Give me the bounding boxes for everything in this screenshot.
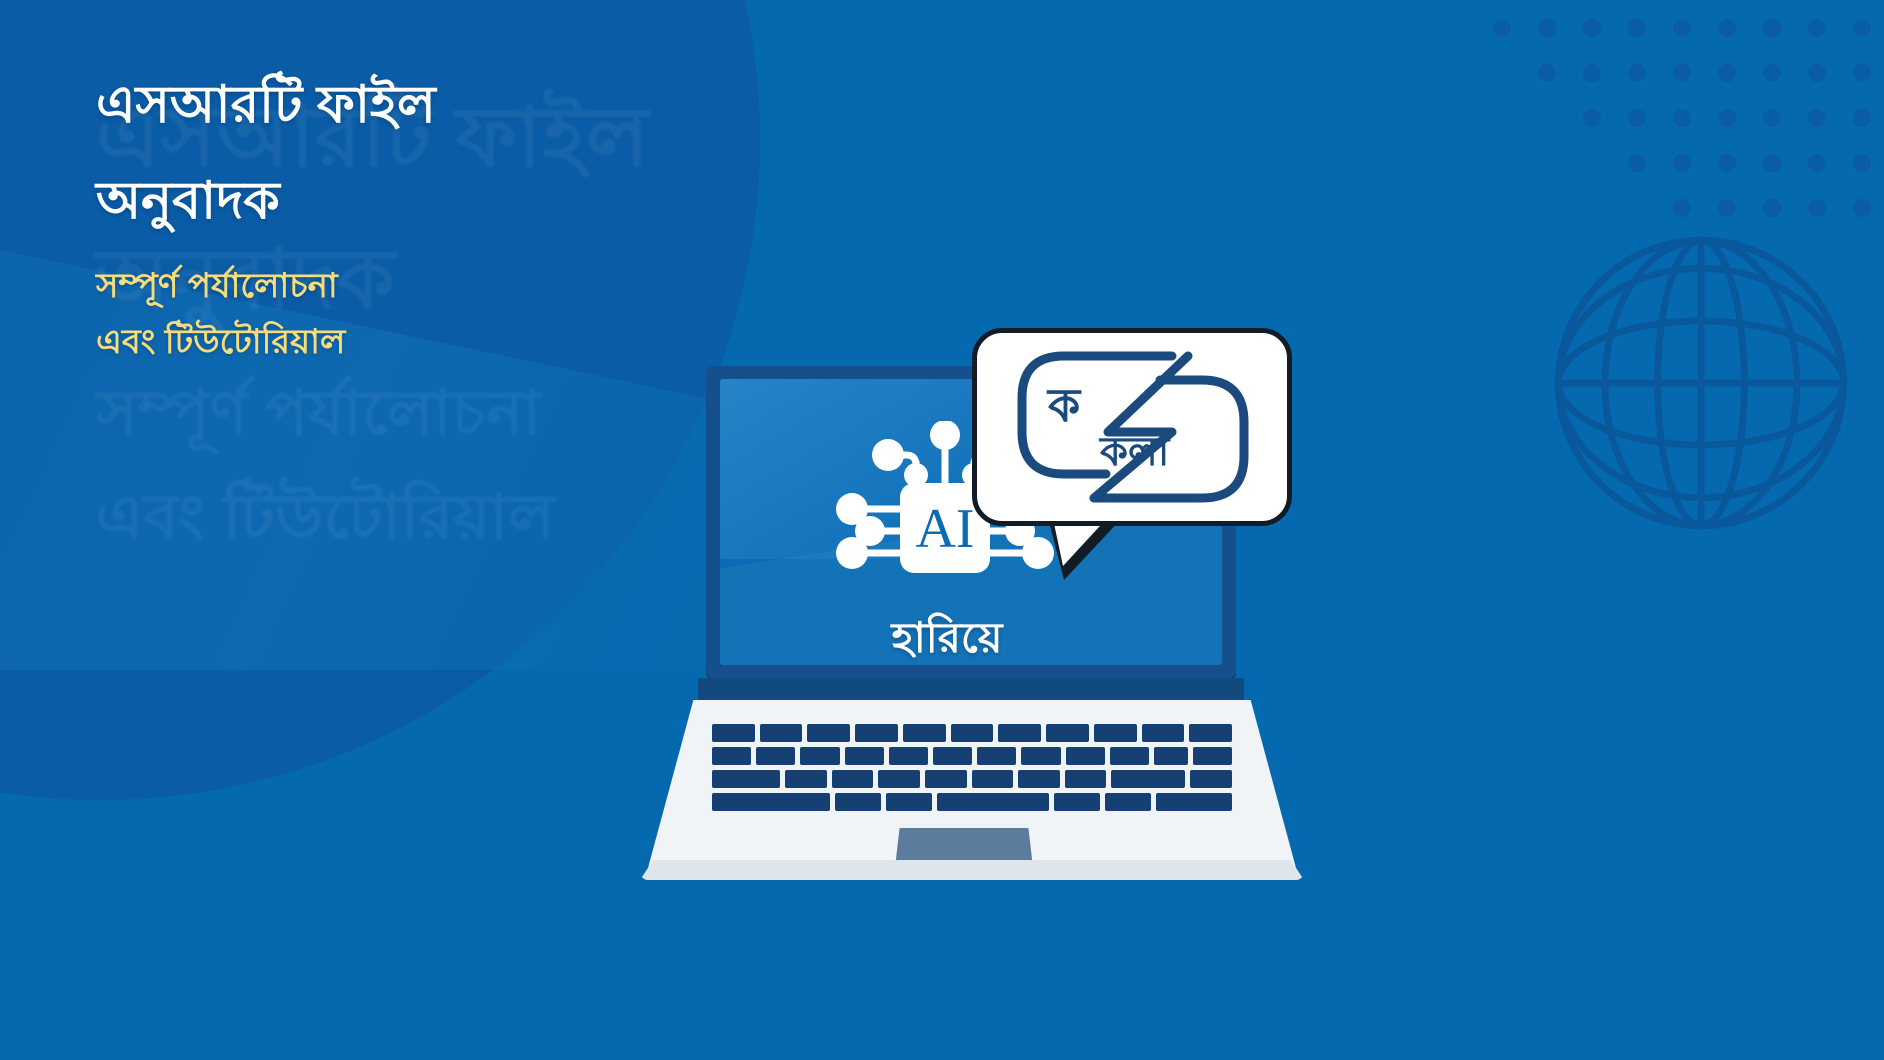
watermark-text-line4: এবং টিউটোরিয়াল (96, 470, 555, 573)
key (951, 724, 994, 742)
bubble-target-char: কলা (1100, 432, 1169, 472)
key (1065, 770, 1107, 788)
key (760, 724, 803, 742)
key (1021, 747, 1060, 765)
key (1105, 793, 1151, 811)
bubble-source-char: ক (1048, 382, 1080, 428)
key (807, 724, 850, 742)
key-enter (1154, 747, 1188, 765)
translate-icon (1002, 346, 1264, 508)
key-return (1111, 770, 1185, 788)
key (925, 770, 967, 788)
laptop-hinge (698, 678, 1244, 702)
key (1193, 747, 1232, 765)
keyboard-row (712, 793, 1232, 811)
page-title-line2: অনুবাদক (96, 166, 736, 236)
screen-caption: হারিয়ে (822, 617, 1072, 659)
key (756, 747, 795, 765)
subtitle-line1: সম্পূর্ণ পর্যালোচনা (96, 262, 736, 311)
key (933, 747, 972, 765)
key (972, 770, 1014, 788)
keyboard-row (712, 770, 1232, 788)
key (1110, 747, 1149, 765)
key (886, 793, 932, 811)
headline-block: এসআরটি ফাইল অনুবাদক সম্পূর্ণ পর্যালোচনা … (96, 70, 736, 373)
key (1190, 770, 1232, 788)
key (855, 724, 898, 742)
key (835, 793, 881, 811)
key (1189, 724, 1232, 742)
key-space (937, 793, 1049, 811)
key (712, 747, 751, 765)
translation-speech-bubble: ক কলা (972, 328, 1292, 528)
key (1142, 724, 1185, 742)
key (998, 724, 1041, 742)
key-shift (712, 793, 830, 811)
globe-icon (1546, 228, 1856, 538)
key (800, 747, 839, 765)
key (889, 747, 928, 765)
key (845, 747, 884, 765)
key (1094, 724, 1137, 742)
keyboard-row (712, 724, 1232, 742)
page-title-line1: এসআরটি ফাইল (96, 70, 736, 140)
watermark-text-line3: সম্পূর্ণ পর্যালোচনা (96, 366, 541, 469)
promo-banner: এসআরটি ফাইল অনুবাদক সম্পূর্ণ পর্যালোচনা … (0, 0, 1884, 1060)
key-caps (712, 770, 780, 788)
laptop-base-lip (640, 860, 1304, 880)
key-right-shift (1156, 793, 1232, 811)
key (1054, 793, 1100, 811)
key (1018, 770, 1060, 788)
key (832, 770, 874, 788)
key (1066, 747, 1105, 765)
dot-grid-icon (1480, 0, 1884, 240)
laptop-keyboard (712, 724, 1232, 816)
key (878, 770, 920, 788)
keyboard-row (712, 747, 1232, 765)
key (977, 747, 1016, 765)
key (712, 724, 755, 742)
key (1046, 724, 1089, 742)
chip-label: AI (915, 498, 974, 560)
key (903, 724, 946, 742)
key (785, 770, 827, 788)
